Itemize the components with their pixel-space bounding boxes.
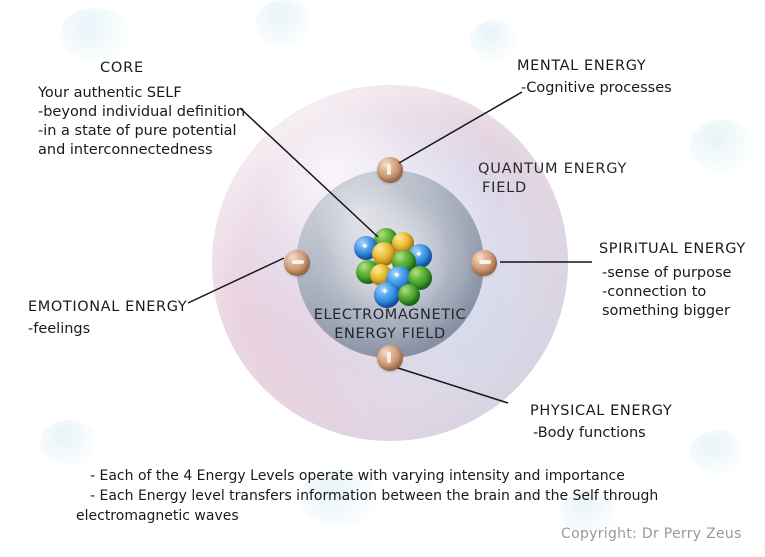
callout-core-line-4: and interconnectedness bbox=[38, 141, 245, 160]
callout-physical-energy: PHYSICAL ENERGY -Body functions bbox=[530, 403, 672, 443]
quantum-field-label-line-1: QUANTUM ENERGY bbox=[478, 160, 627, 179]
quantum-energy-field-label: QUANTUM ENERGY FIELD bbox=[478, 160, 627, 198]
callout-physical-line-1: -Body functions bbox=[533, 424, 672, 443]
background-watermark-2 bbox=[255, 0, 315, 46]
callout-spiritual-line-1: -sense of purpose bbox=[602, 264, 746, 283]
callout-emotional-line-1: -feelings bbox=[28, 320, 187, 339]
node-highlight-icon bbox=[387, 352, 391, 363]
nucleus-ball-blue-4 bbox=[374, 282, 400, 308]
node-emotional-energy[interactable] bbox=[284, 250, 310, 276]
callout-emotional-heading: EMOTIONAL ENERGY bbox=[28, 299, 187, 315]
callout-emotional-energy: EMOTIONAL ENERGY -feelings bbox=[28, 299, 187, 339]
diagram-canvas: ✦ ✦ ✦ ✦ CORE Your authentic SELF -beyond… bbox=[0, 0, 765, 557]
footnote-line-1: - Each of the 4 Energy Levels operate wi… bbox=[90, 466, 658, 486]
copyright-notice: Copyright: Dr Perry Zeus bbox=[561, 526, 742, 542]
nucleus-ball-green-5 bbox=[398, 284, 420, 306]
em-field-label-line-2: ENERGY FIELD bbox=[296, 325, 484, 344]
core-nucleus-cluster: ✦ ✦ ✦ ✦ bbox=[352, 228, 436, 312]
callout-core-heading: CORE bbox=[100, 60, 245, 76]
callout-mental-energy: MENTAL ENERGY -Cognitive processes bbox=[517, 58, 672, 98]
callout-spiritual-energy: SPIRITUAL ENERGY -sense of purpose -conn… bbox=[599, 241, 746, 321]
quantum-field-label-line-2: FIELD bbox=[482, 179, 627, 198]
footnotes: - Each of the 4 Energy Levels operate wi… bbox=[90, 466, 658, 526]
em-field-label-line-1: ELECTROMAGNETIC bbox=[296, 306, 484, 325]
background-watermark-8 bbox=[690, 430, 746, 474]
background-watermark-5 bbox=[40, 420, 98, 466]
callout-spiritual-line-2: -connection to bbox=[602, 283, 746, 302]
callout-physical-heading: PHYSICAL ENERGY bbox=[530, 403, 672, 419]
background-watermark-4 bbox=[690, 120, 754, 172]
callout-spiritual-heading: SPIRITUAL ENERGY bbox=[599, 241, 746, 257]
callout-core-line-3: -in a state of pure potential bbox=[38, 122, 245, 141]
callout-core: CORE Your authentic SELF -beyond individ… bbox=[38, 60, 245, 160]
node-highlight-icon bbox=[387, 164, 391, 175]
node-spiritual-energy[interactable] bbox=[471, 250, 497, 276]
callout-mental-heading: MENTAL ENERGY bbox=[517, 58, 672, 74]
callout-core-line-2: -beyond individual definition bbox=[38, 103, 245, 122]
node-highlight-icon bbox=[292, 260, 304, 264]
callout-core-line-1: Your authentic SELF bbox=[38, 84, 245, 103]
footnote-line-2: - Each Energy level transfers informatio… bbox=[90, 486, 658, 506]
electromagnetic-energy-field-label: ELECTROMAGNETIC ENERGY FIELD bbox=[296, 306, 484, 344]
node-highlight-icon bbox=[479, 260, 491, 264]
background-watermark-1 bbox=[60, 8, 130, 60]
node-mental-energy[interactable] bbox=[377, 157, 403, 183]
background-watermark-3 bbox=[470, 20, 518, 60]
callout-mental-line-1: -Cognitive processes bbox=[521, 79, 672, 98]
callout-spiritual-line-3: something bigger bbox=[602, 302, 746, 321]
node-physical-energy[interactable] bbox=[377, 345, 403, 371]
footnote-line-3: electromagnetic waves bbox=[76, 506, 658, 526]
